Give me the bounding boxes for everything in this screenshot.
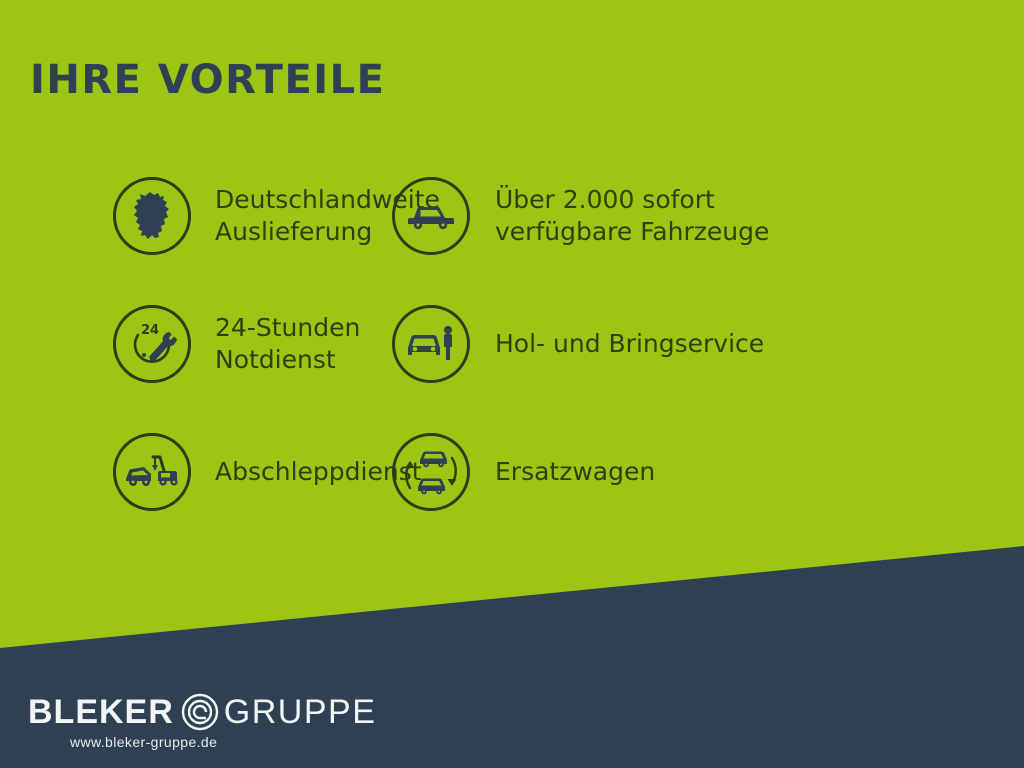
benefit-item-hol-und-bringservice[interactable]: Hol- und Bringservice bbox=[392, 280, 912, 408]
car-with-person-icon bbox=[392, 305, 470, 383]
benefit-item-verfuegbare-fahrzeuge[interactable]: Über 2.000 sofort verfügbare Fahrzeuge bbox=[392, 152, 912, 280]
brand-logo[interactable]: BLEKER GRUPPE www.bleker-gruppe.de bbox=[28, 692, 376, 750]
benefit-label: Über 2.000 sofort verfügbare Fahrzeuge bbox=[495, 184, 769, 248]
benefits-grid: Deutschlandweite Auslieferung Über 2.000… bbox=[0, 152, 1024, 536]
benefits-row: 24 24-Stunden Notdienst bbox=[0, 280, 1024, 408]
benefit-item-deutschlandweite-auslieferung[interactable]: Deutschlandweite Auslieferung bbox=[0, 152, 392, 280]
spiral-circle-icon bbox=[180, 692, 220, 732]
logo-wordmark: BLEKER GRUPPE bbox=[28, 692, 376, 732]
benefits-row: Abschleppdienst bbox=[0, 408, 1024, 536]
slide-canvas: IHRE VORTEILE Deutschlandweite Ausliefer… bbox=[0, 0, 1024, 768]
benefit-label: 24-Stunden Notdienst bbox=[215, 312, 360, 376]
benefit-label: Hol- und Bringservice bbox=[495, 328, 764, 360]
24h-wrench-icon: 24 bbox=[113, 305, 191, 383]
car-icon bbox=[392, 177, 470, 255]
two-cars-exchange-icon bbox=[392, 433, 470, 511]
hours-badge-text: 24 bbox=[141, 323, 159, 338]
logo-word-gruppe: GRUPPE bbox=[224, 693, 377, 732]
benefit-label: Abschleppdienst bbox=[215, 456, 422, 488]
page-title: IHRE VORTEILE bbox=[30, 60, 385, 100]
germany-map-icon bbox=[113, 177, 191, 255]
benefit-item-24-stunden-notdienst[interactable]: 24 24-Stunden Notdienst bbox=[0, 280, 392, 408]
logo-website-url[interactable]: www.bleker-gruppe.de bbox=[70, 734, 217, 750]
benefit-label: Ersatzwagen bbox=[495, 456, 655, 488]
logo-word-bleker: BLEKER bbox=[28, 693, 174, 732]
benefits-row: Deutschlandweite Auslieferung Über 2.000… bbox=[0, 152, 1024, 280]
benefit-item-abschleppdienst[interactable]: Abschleppdienst bbox=[0, 408, 392, 536]
tow-truck-icon bbox=[113, 433, 191, 511]
benefit-item-ersatzwagen[interactable]: Ersatzwagen bbox=[392, 408, 912, 536]
